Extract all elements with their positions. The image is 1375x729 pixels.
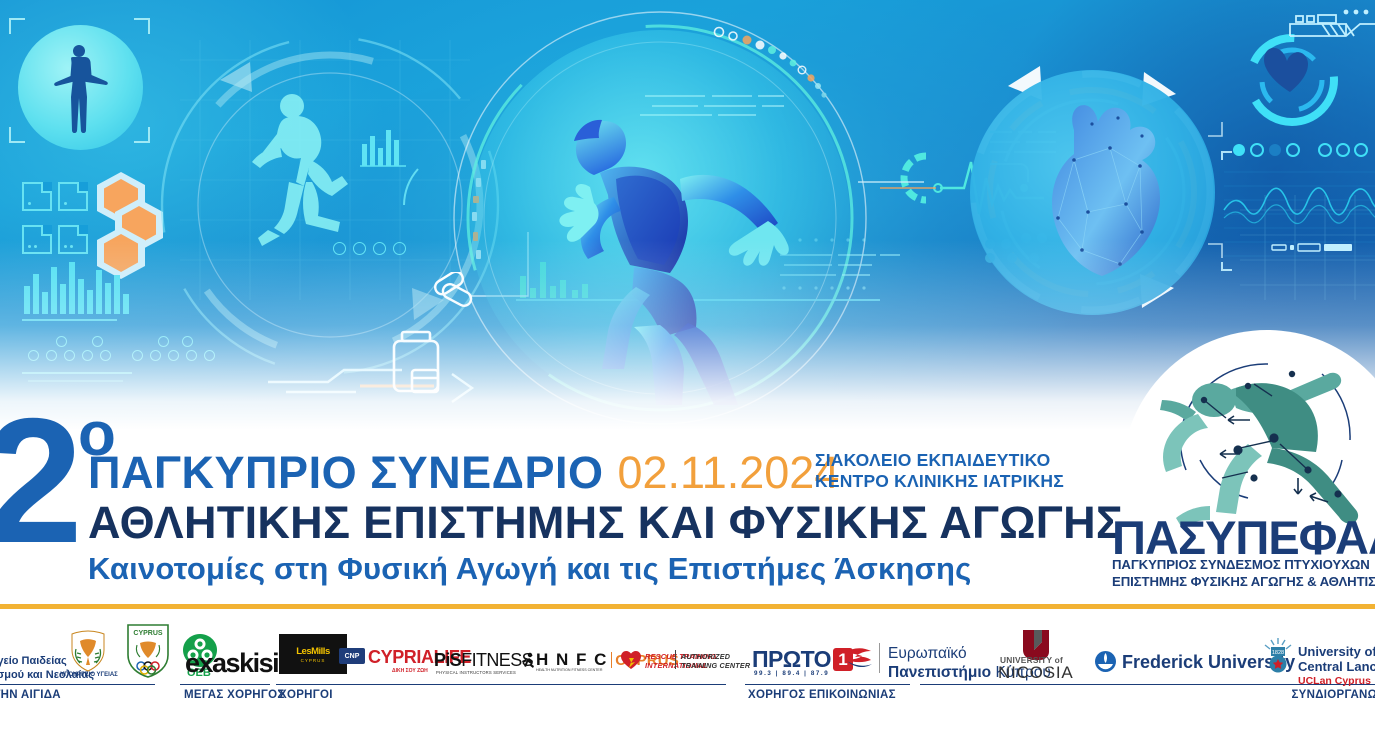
rule-sponsors	[276, 684, 726, 685]
running-figure-icon	[250, 90, 380, 250]
hnfc-tagline: HEALTH NUTRITION FITNESS CENTER	[536, 668, 602, 672]
exaskisi-wordmark: exaskisi	[185, 648, 278, 679]
frederick-logo-icon	[1094, 650, 1117, 673]
cyprus-olympic-committee-icon: CYPRUS	[124, 623, 172, 679]
lesmills-logo: LesMills CYPRUS	[279, 634, 347, 674]
unic-name: NICOSIA	[998, 663, 1074, 683]
organizer-subtitle-line-1: ΠΑΓΚΥΠΡΙΟΣ ΣΥΝΔΕΣΜΟΣ ΠΤΥΧΙΟΥΧΩΝ	[1112, 557, 1375, 574]
ordinal-number: 2	[0, 392, 77, 570]
pisfitness-part1: PiS	[434, 650, 461, 670]
bottom-whitespace	[0, 700, 1375, 729]
venue-line-1: ΣΙΑΚΟΛΕΙΟ ΕΚΠΑΙΔΕΥΤΙΚΟ	[815, 450, 1064, 471]
conference-date: 02.11.2024	[617, 447, 839, 499]
rescue-training-heart-icon	[620, 650, 642, 670]
hnfc-divider	[611, 652, 612, 668]
uclan-line-2: Central Lancashire	[1298, 660, 1375, 675]
proto-name: ΠΡΩΤΟ	[752, 646, 831, 673]
euc-line-2-bold: Πανεπιστήμιο	[888, 664, 991, 681]
conference-poster: 2 o ΠΑΓΚΥΠΡΙΟ ΣΥΝΕΔΡΙΟ 02.11.2024 ΣΙΑΚΟΛ…	[0, 0, 1375, 729]
proto-frequencies: 99.3 | 89.4 | 87.9	[754, 670, 829, 677]
uclan-crest-icon: 1828	[1262, 637, 1294, 673]
lesmills-name: LesMills	[296, 646, 330, 657]
hnfc-letters: H N F C	[536, 650, 608, 670]
pasypefaa-runner-icon	[1152, 352, 1375, 527]
title-line-1: ΠΑΓΚΥΠΡΙΟ ΣΥΝΕΔΡΙΟ 02.11.2024	[88, 447, 839, 499]
hnfc-runner-icon	[520, 652, 536, 669]
cyprus-coat-of-arms-icon	[68, 629, 108, 673]
rule-aegis	[0, 684, 155, 685]
euc-divider	[879, 643, 880, 673]
proto-radio-logo: ΠΡΩΤΟ 1	[752, 646, 853, 673]
cyprialife-tagline: ΔΙΚΗ ΣΟΥ ΖΩΗ	[392, 668, 428, 674]
organizer-subtitle-line-2: ΕΠΙΣΤΗΜΗΣ ΦΥΣΙΚΗΣ ΑΓΩΓΗΣ & ΑΘΛΗΤΙΣΜΟΥ	[1112, 574, 1375, 591]
uclan-line-3: UCLan Cyprus	[1298, 676, 1375, 688]
venue-block: ΣΙΑΚΟΛΕΙΟ ΕΚΠΑΙΔΕΥΤΙΚΟ ΚΕΝΤΡΟ ΚΛΙΝΙΚΗΣ Ι…	[815, 450, 1064, 493]
venue-line-2: ΚΕΝΤΡΟ ΚΛΙΝΙΚΗΣ ΙΑΤΡΙΚΗΣ	[815, 471, 1064, 492]
european-university-mark-icon	[843, 645, 873, 671]
organizer-subtitle: ΠΑΓΚΥΠΡΙΟΣ ΣΥΝΔΕΣΜΟΣ ΠΤΥΧΙΟΥΧΩΝ ΕΠΙΣΤΗΜΗ…	[1112, 557, 1375, 590]
rti-authorized-block: AUTHORIZED TRAINING CENTER	[681, 652, 750, 670]
title-line-1-text: ΠΑΓΚΥΠΡΙΟ ΣΥΝΕΔΡΙΟ	[88, 447, 603, 499]
lesmills-sub: CYPRUS	[301, 658, 326, 663]
svg-text:CYPRUS: CYPRUS	[133, 630, 163, 637]
rti-auth-line-2: TRAINING CENTER	[681, 661, 750, 670]
rti-auth-line-1: AUTHORIZED	[681, 652, 750, 661]
uclan-year: 1828	[1272, 650, 1284, 656]
ministry-health-label: ΥΠΟΥΡΓΕΙΟ ΥΓΕΙΑΣ	[58, 672, 120, 678]
uclan-wordmark: University of Central Lancashire UCLan C…	[1298, 645, 1375, 688]
uclan-line-1: University of	[1298, 645, 1375, 660]
title-subtitle: Καινοτομίες στη Φυσική Αγωγή και τις Επι…	[88, 551, 972, 587]
pisfitness-tagline: PHYSICAL INSTRUCTORS SERVICES	[436, 670, 516, 675]
mini-bar-chart-icon	[360, 128, 410, 168]
title-line-2: ΑΘΛΗΤΙΚΗΣ ΕΠΙΣΤΗΜΗΣ ΚΑΙ ΦΥΣΙΚΗΣ ΑΓΩΓΗΣ	[88, 497, 1123, 549]
rule-media-sponsor	[745, 684, 910, 685]
rule-major-sponsor	[180, 684, 270, 685]
pisfitness-wordmark: PiSFITNESS	[434, 650, 533, 671]
rti-divider	[675, 650, 676, 669]
cnp-mark: CNP	[339, 648, 365, 664]
cnp-label: CNP	[345, 653, 360, 660]
